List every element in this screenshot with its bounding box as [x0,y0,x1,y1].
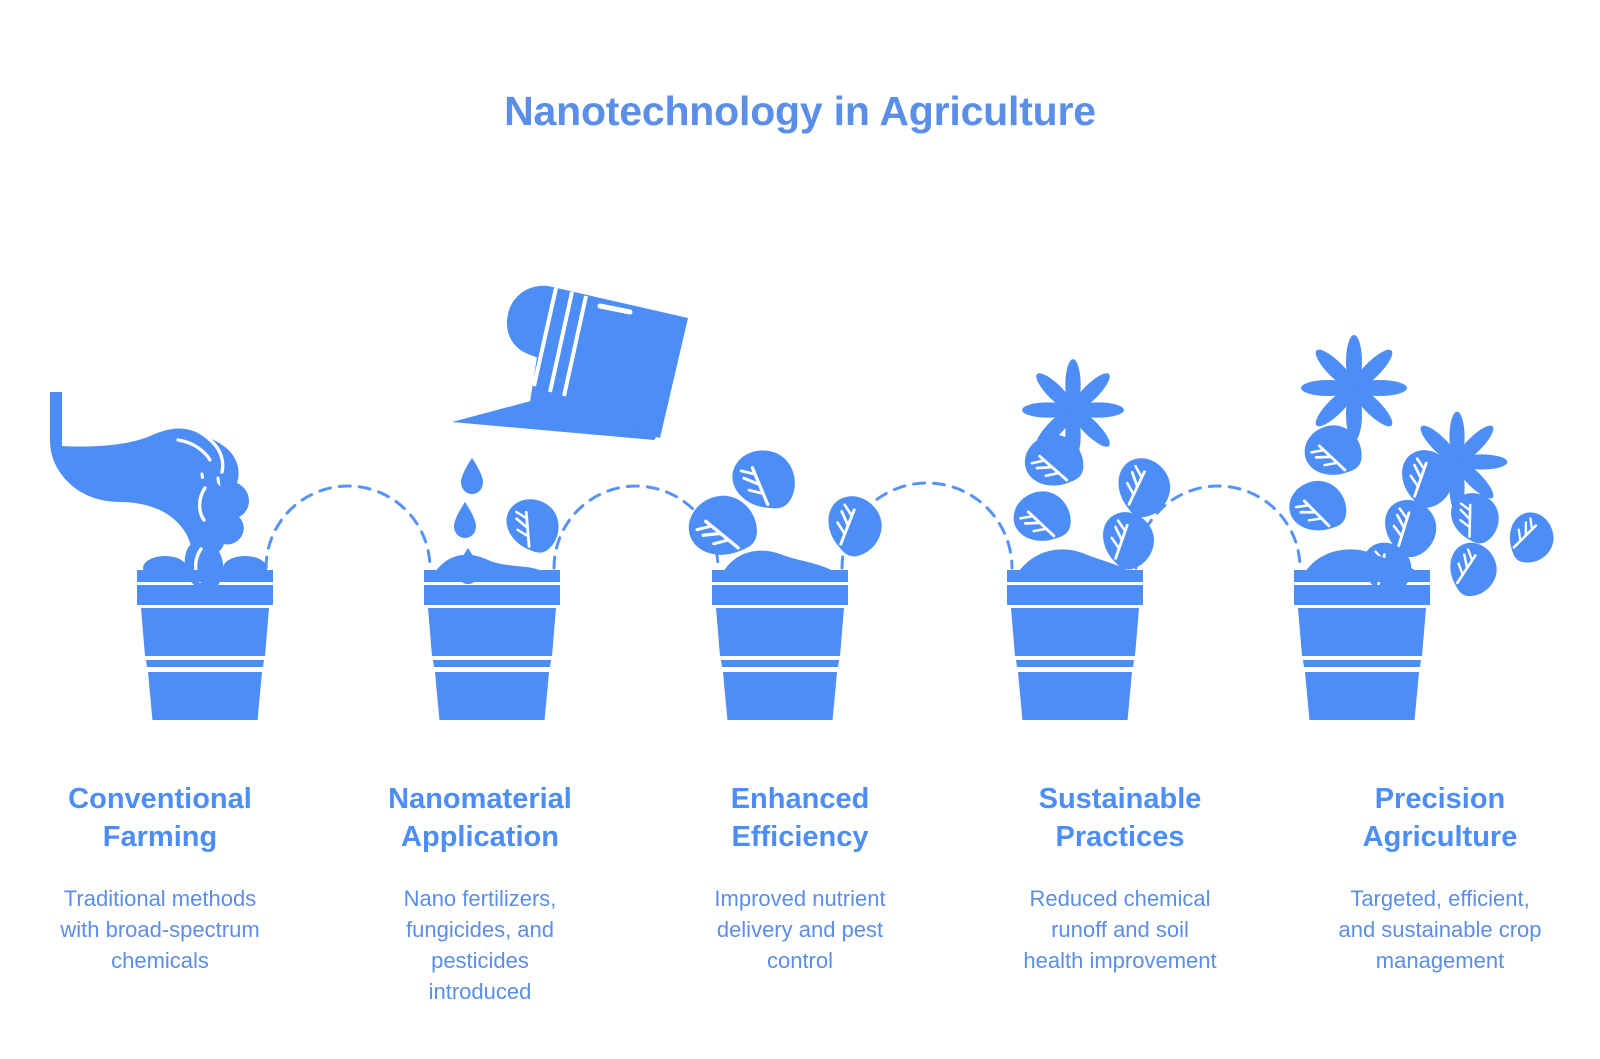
connector-arc-1 [266,486,430,568]
step-description-precision-agriculture: Targeted, efficient, and sustainable cro… [1294,883,1586,977]
page-title: Nanotechnology in Agriculture [0,88,1600,135]
step-title-conventional-farming: Conventional Farming [14,780,306,857]
step-description-nanomaterial-application: Nano fertilizers, fungicides, and pestic… [334,883,626,1008]
step-column-3: Enhanced Efficiency Improved nutrient de… [640,780,960,1040]
watering-can-icon [452,286,688,440]
step-title-nanomaterial-application: Nanomaterial Application [334,780,626,857]
step-column-5: Precision Agriculture Targeted, efficien… [1280,780,1600,1040]
hand-dropping-seeds-icon [50,392,249,555]
step-title-precision-agriculture: Precision Agriculture [1294,780,1586,857]
step-title-sustainable-practices: Sustainable Practices [974,780,1266,857]
infographic-canvas: Nanotechnology in Agriculture [0,0,1600,1059]
step-description-enhanced-efficiency: Improved nutrient delivery and pest cont… [654,883,946,977]
sprout-leaf [501,495,564,556]
plant-pot-5 [1294,549,1430,720]
step-title-enhanced-efficiency: Enhanced Efficiency [654,780,946,857]
illustration-stage [0,250,1600,720]
step-description-sustainable-practices: Reduced chemical runoff and soil health … [974,883,1266,977]
leaf-5-6 [1499,505,1562,569]
step-column-4: Sustainable Practices Reduced chemical r… [960,780,1280,1040]
water-drop-2 [454,502,476,538]
step-column-2: Nanomaterial Application Nano fertilizer… [320,780,640,1040]
leaf-5-8 [1437,534,1507,604]
flower-upper [1301,335,1407,441]
plant-pot-3 [712,551,848,720]
stage-3-illustration [678,447,894,720]
step-description-conventional-farming: Traditional methods with broad-spectrum … [14,883,306,977]
stage-5-illustration [1281,335,1562,720]
water-drop-1 [461,458,483,494]
stage-4-illustration [1005,359,1182,720]
leaf-upper-right [1104,448,1182,525]
stages-illustration [0,250,1600,720]
steps-labels-row: Conventional Farming Traditional methods… [0,780,1600,1040]
stage-2-illustration [424,286,688,720]
leaf-lower-left [1005,481,1079,554]
plant-pot-1 [137,556,273,720]
step-column-1: Conventional Farming Traditional methods… [0,780,320,1040]
plant-pot-2 [424,555,560,720]
stage-1-illustration [50,392,273,720]
plant-pot-4 [1007,549,1143,720]
